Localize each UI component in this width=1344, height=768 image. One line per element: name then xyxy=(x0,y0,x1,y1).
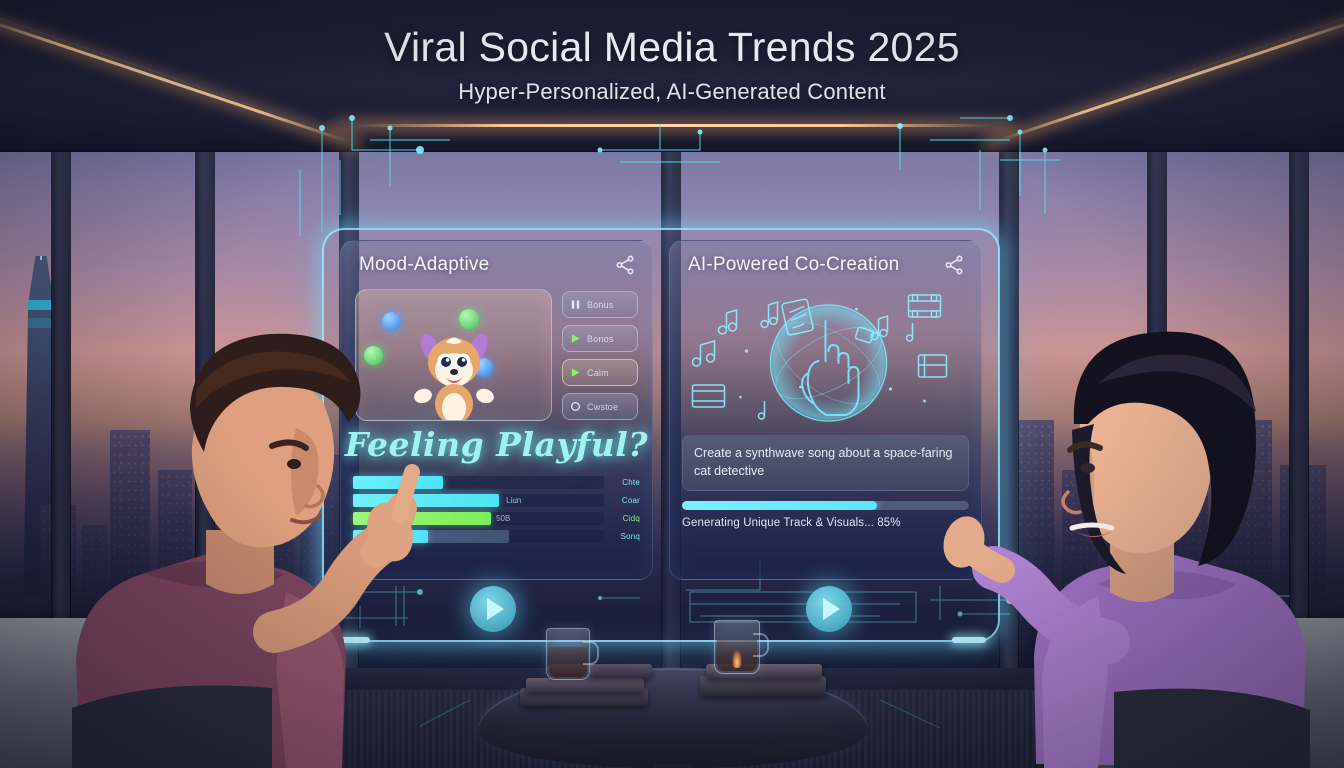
play-icon xyxy=(487,598,504,620)
bar-tag: Cidq xyxy=(610,514,640,523)
table-leg xyxy=(654,764,692,768)
circle-icon xyxy=(570,401,581,412)
mood-button-label: Bonus xyxy=(587,300,614,310)
mood-button[interactable]: Bonus xyxy=(562,291,638,318)
mood-button-label: Cwstoe xyxy=(587,402,618,412)
play-icon xyxy=(823,598,840,620)
progress-fill xyxy=(682,501,877,510)
page-title: Viral Social Media Trends 2025 xyxy=(0,24,1344,71)
pause-icon xyxy=(570,299,581,310)
mood-button-label: Bonos xyxy=(587,334,614,344)
mood-button-list: Bonus Bonos Calm xyxy=(562,289,638,421)
play-button-left[interactable] xyxy=(470,586,516,632)
scene-root: Viral Social Media Trends 2025 Hyper-Per… xyxy=(0,0,1344,768)
share-icon[interactable] xyxy=(614,254,636,276)
play-icon xyxy=(570,367,581,378)
stacked-books xyxy=(526,678,644,692)
page-subtitle: Hyper-Personalized, AI-Generated Content xyxy=(0,79,1344,105)
stacked-books xyxy=(700,676,826,696)
person-right-woman xyxy=(922,244,1322,768)
mood-button-label: Calm xyxy=(587,368,609,378)
ceiling-edge xyxy=(0,108,1344,152)
bar-mid-label: Liun xyxy=(506,496,521,505)
bar-tag: Coar xyxy=(610,496,640,505)
glass-mug-right xyxy=(714,620,760,674)
play-button-right[interactable] xyxy=(806,586,852,632)
bar-tag: Sonq xyxy=(610,532,640,541)
mood-button[interactable]: Cwstoe xyxy=(562,393,638,420)
person-left-man xyxy=(60,240,460,768)
mood-button[interactable]: Calm xyxy=(562,359,638,386)
candle-flame-icon xyxy=(732,650,742,668)
glass-mug-left xyxy=(546,628,590,680)
ceiling-led-center xyxy=(335,124,1011,127)
header: Viral Social Media Trends 2025 Hyper-Per… xyxy=(0,24,1344,105)
mood-button[interactable]: Bonos xyxy=(562,325,638,352)
bar-tag: Chte xyxy=(610,478,640,487)
play-icon xyxy=(570,333,581,344)
mug-liquid xyxy=(549,647,587,677)
panel-title-right: AI-Powered Co-Creation xyxy=(688,254,899,276)
bar-mid-label: 50B xyxy=(496,514,510,523)
